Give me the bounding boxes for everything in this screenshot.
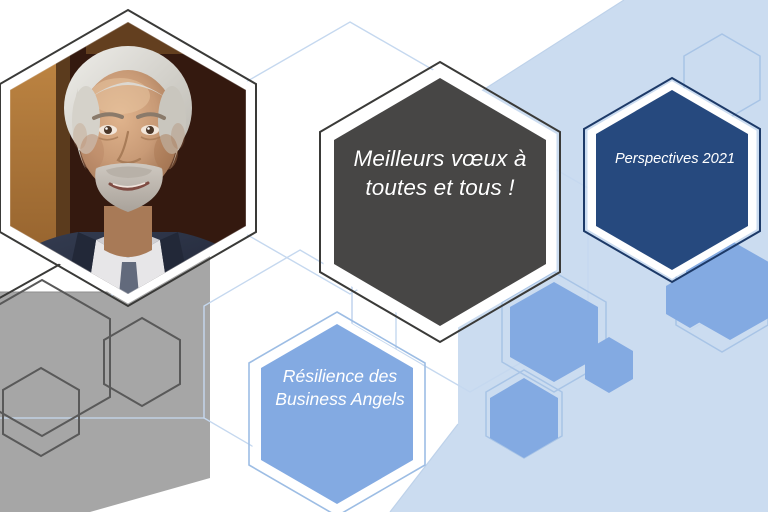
slide-canvas: Meilleurs vœux à toutes et tous ! Perspe…: [0, 0, 768, 512]
artwork-layer: [0, 0, 768, 512]
resilience-hexagon-label: Résilience des Business Angels: [240, 365, 440, 411]
greeting-hexagon-label: Meilleurs vœux à toutes et tous !: [312, 144, 568, 203]
perspectives-hexagon-label: Perspectives 2021: [590, 150, 760, 169]
